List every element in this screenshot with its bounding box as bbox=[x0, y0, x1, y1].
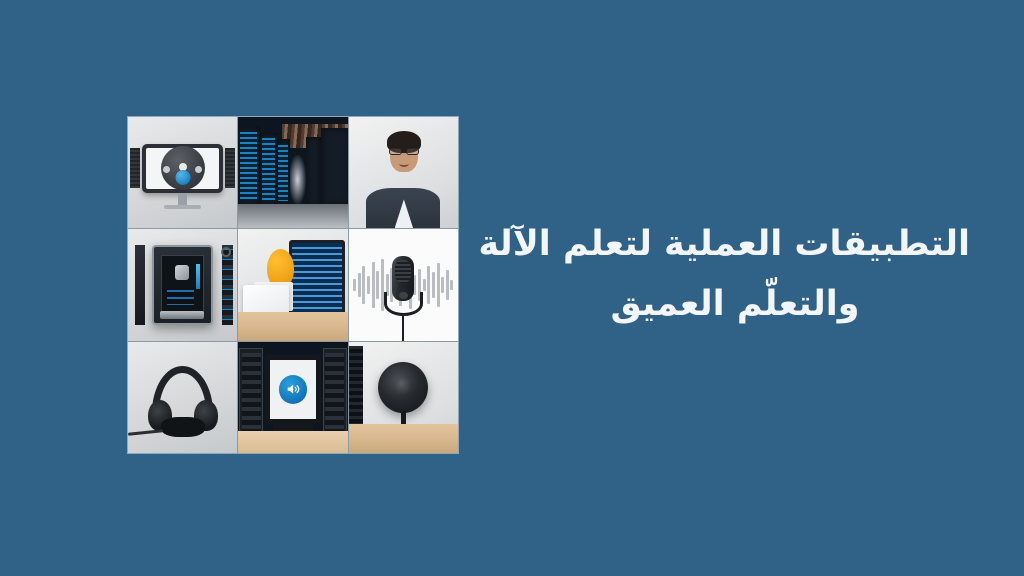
collage-cell-studio-microphone-waveform bbox=[349, 229, 458, 340]
portrait-smile bbox=[399, 160, 409, 166]
glasses-icon bbox=[389, 148, 419, 155]
collage-cell-computer-tower-internals bbox=[128, 229, 237, 340]
ai-disc-icon bbox=[161, 146, 205, 190]
computer-tower-icon bbox=[152, 245, 213, 325]
collage-cell-keyhole-security-laptop-code bbox=[238, 229, 347, 340]
ai-disc-blue-sphere bbox=[175, 170, 190, 185]
audio-monitor-screen bbox=[265, 355, 322, 424]
headphone-cable bbox=[128, 429, 163, 436]
server-rack-leds bbox=[262, 138, 275, 200]
slide-title: التطبيقات العملية لتعلم الآلة والتعلّم ا… bbox=[500, 214, 970, 334]
server-rack-leds bbox=[240, 132, 257, 199]
collage-cell-audio-monitor-server-racks bbox=[238, 342, 347, 453]
server-rack-icon bbox=[239, 348, 263, 435]
collage-cell-man-portrait-glasses bbox=[349, 117, 458, 228]
aisle-light-glow bbox=[289, 155, 306, 204]
microphone-grill bbox=[395, 260, 411, 283]
server-rack-leds bbox=[278, 145, 287, 201]
tower-side-panel-left bbox=[135, 245, 146, 325]
server-rack-icon bbox=[277, 139, 290, 206]
rack-strip-left-icon bbox=[130, 148, 140, 188]
speaker-icon bbox=[378, 362, 428, 413]
expansion-slots bbox=[167, 290, 194, 305]
title-line-2: والتعلّم العميق bbox=[500, 274, 970, 334]
gpu-card bbox=[160, 311, 205, 319]
server-rack-icon bbox=[238, 126, 260, 206]
collage-cell-desktop-monitor-ai-graphic bbox=[128, 117, 237, 228]
wooden-desk-surface bbox=[238, 431, 347, 453]
server-rack-icon bbox=[259, 133, 278, 206]
motherboard bbox=[161, 255, 205, 316]
server-rack-icon bbox=[306, 137, 321, 206]
monitor-screen bbox=[146, 148, 219, 189]
monitor-foot bbox=[164, 205, 201, 209]
server-rack-units bbox=[325, 353, 344, 431]
collage-cell-over-ear-headphones bbox=[128, 342, 237, 453]
headphone-earpad bbox=[161, 417, 205, 437]
code-screen bbox=[292, 243, 343, 317]
server-rack-units bbox=[242, 353, 261, 431]
title-line-1: التطبيقات العملية لتعلم الآلة bbox=[500, 214, 970, 274]
tower-side-panel-right bbox=[222, 245, 233, 325]
image-collage bbox=[128, 117, 458, 453]
speaker-volume-icon bbox=[285, 381, 301, 397]
aisle-floor bbox=[238, 204, 347, 228]
rack-strip-right-icon bbox=[225, 148, 235, 188]
laptop-icon bbox=[289, 240, 346, 320]
slide-canvas: التطبيقات العملية لتعلم الآلة والتعلّم ا… bbox=[0, 0, 1024, 576]
microphone-knob bbox=[399, 292, 408, 300]
wooden-desk-surface bbox=[349, 424, 458, 453]
microphone-cable bbox=[402, 314, 404, 341]
speaker-dome bbox=[394, 377, 412, 395]
ram-module bbox=[196, 264, 200, 289]
collage-cell-data-center-server-aisle bbox=[238, 117, 347, 228]
case-fan-icon bbox=[221, 247, 231, 257]
speaker-badge bbox=[279, 375, 307, 403]
collage-cell-desk-speaker bbox=[349, 342, 458, 453]
server-rack-icon bbox=[323, 348, 347, 435]
monitor-icon bbox=[142, 144, 223, 193]
server-rack-icon bbox=[349, 346, 363, 431]
wooden-desk-surface bbox=[238, 312, 347, 341]
cpu-cooler-icon bbox=[175, 265, 189, 280]
server-rack-icon bbox=[321, 128, 347, 206]
